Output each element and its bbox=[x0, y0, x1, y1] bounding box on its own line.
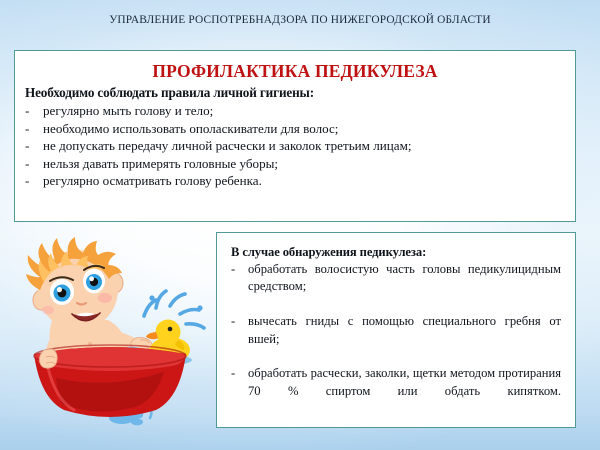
list-item: - регулярно мыть голову и тело; bbox=[25, 102, 565, 120]
detection-title: В случае обнаружения педикулеза: bbox=[231, 245, 561, 260]
dash-marker: - bbox=[25, 102, 43, 120]
organization-header: УПРАВЛЕНИЕ РОСПОТРЕБНАДЗОРА ПО НИЖЕГОРОД… bbox=[0, 14, 600, 26]
prevention-lead-text: Необходимо соблюдать правила личной гиги… bbox=[25, 85, 565, 101]
list-item: - обработать расчески, заколки, щетки ме… bbox=[231, 365, 561, 417]
list-item: - не допускать передачу личной расчески … bbox=[25, 137, 565, 155]
dash-marker: - bbox=[25, 172, 43, 190]
list-item-text: не допускать передачу личной расчески и … bbox=[43, 137, 565, 155]
prevention-panel: ПРОФИЛАКТИКА ПЕДИКУЛЕЗА Необходимо соблю… bbox=[14, 50, 576, 222]
list-item-text: необходимо использовать ополаскиватели д… bbox=[43, 120, 565, 138]
dash-marker: - bbox=[25, 155, 43, 173]
dash-marker: - bbox=[25, 120, 43, 138]
dash-marker: - bbox=[25, 137, 43, 155]
prevention-bullet-list: - регулярно мыть голову и тело; - необхо… bbox=[25, 102, 565, 190]
list-item-text: регулярно осматривать голову ребенка. bbox=[43, 172, 565, 190]
baby-in-washtub-illustration bbox=[4, 228, 214, 444]
list-item-text: обработать волосистую часть головы педик… bbox=[248, 261, 561, 313]
prevention-title: ПРОФИЛАКТИКА ПЕДИКУЛЕЗА bbox=[25, 61, 565, 82]
list-item: - регулярно осматривать голову ребенка. bbox=[25, 172, 565, 190]
list-item-text: вычесать гниды с помощью специального гр… bbox=[248, 313, 561, 365]
dash-marker: - bbox=[231, 261, 235, 278]
detection-panel: В случае обнаружения педикулеза: - обраб… bbox=[216, 232, 576, 428]
poster-root: УПРАВЛЕНИЕ РОСПОТРЕБНАДЗОРА ПО НИЖЕГОРОД… bbox=[0, 0, 600, 450]
list-item: - необходимо использовать ополаскиватели… bbox=[25, 120, 565, 138]
list-item: - нельзя давать примерять головные уборы… bbox=[25, 155, 565, 173]
dash-marker: - bbox=[231, 313, 235, 330]
list-item: - обработать волосистую часть головы пед… bbox=[231, 261, 561, 313]
list-item-text: обработать расчески, заколки, щетки мето… bbox=[248, 365, 561, 417]
list-item-text: нельзя давать примерять головные уборы; bbox=[43, 155, 565, 173]
baby-left-hand bbox=[40, 349, 58, 368]
list-item-text: регулярно мыть голову и тело; bbox=[43, 102, 565, 120]
list-item: - вычесать гниды с помощью специального … bbox=[231, 313, 561, 365]
dash-marker: - bbox=[231, 365, 235, 382]
